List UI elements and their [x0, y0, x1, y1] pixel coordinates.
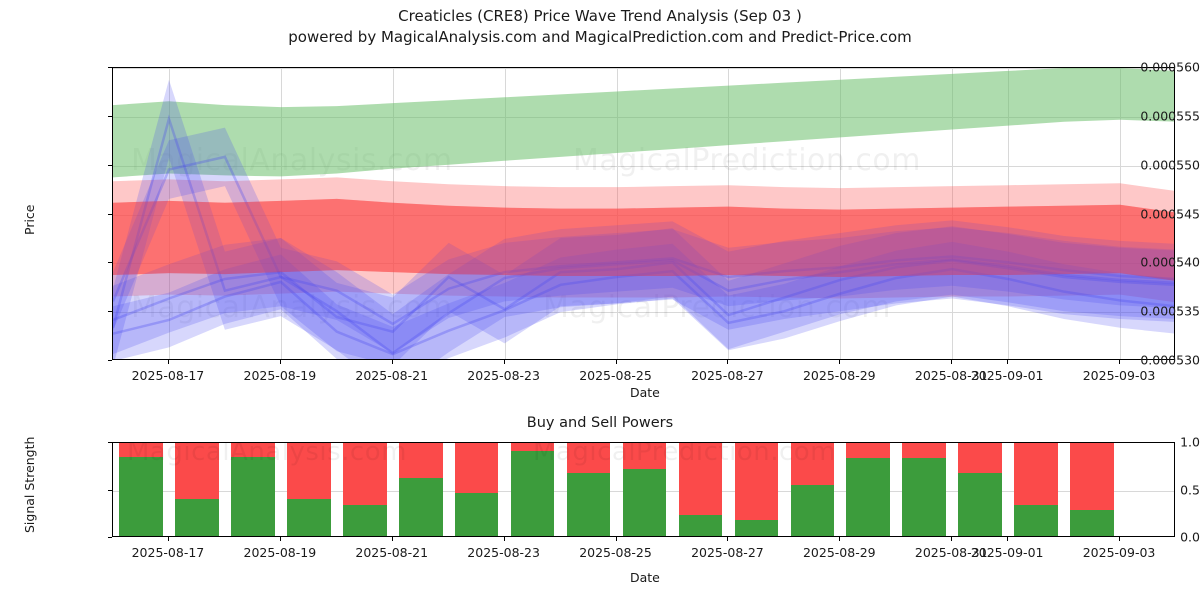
- powers-y-tickmark: [108, 442, 112, 443]
- sell-power-segment: [623, 442, 667, 469]
- powers-x-tick-label: 2025-08-17: [132, 545, 205, 560]
- powers-y-axis-label: Signal Strength: [22, 437, 37, 533]
- price-x-tickmark: [1119, 360, 1120, 364]
- powers-x-tickmark: [280, 537, 281, 541]
- price-y-tickmark: [108, 311, 112, 312]
- sell-power-segment: [511, 442, 555, 451]
- powers-y-tick-label: 1.0: [1098, 435, 1200, 450]
- price-x-axis-label: Date: [630, 385, 660, 400]
- price-x-tickmark: [504, 360, 505, 364]
- price-x-tick-label: 2025-08-21: [355, 368, 428, 383]
- buy-power-segment: [455, 493, 499, 536]
- price-x-tick-label: 2025-08-19: [244, 368, 317, 383]
- powers-x-tick-label: 2025-08-25: [579, 545, 652, 560]
- powers-x-tick-label: 2025-08-19: [244, 545, 317, 560]
- price-y-tickmark: [108, 67, 112, 68]
- buy-power-segment: [1014, 505, 1058, 536]
- powers-x-axis-label: Date: [630, 570, 660, 585]
- powers-x-tickmark: [504, 537, 505, 541]
- powers-x-tick-label: 2025-09-03: [1083, 545, 1156, 560]
- powers-x-tickmark: [951, 537, 952, 541]
- price-wave-layer: [113, 68, 1175, 360]
- power-bar: [1014, 442, 1058, 536]
- price-plot-area: MagicalAnalysis.comMagicalPrediction.com…: [112, 67, 1175, 360]
- price-y-tickmark: [108, 116, 112, 117]
- price-x-tick-label: 2025-08-27: [691, 368, 764, 383]
- powers-x-tick-label: 2025-08-23: [467, 545, 540, 560]
- power-bar: [958, 442, 1002, 536]
- powers-y-tickmark: [108, 537, 112, 538]
- buy-power-segment: [175, 499, 219, 536]
- power-bar: [511, 442, 555, 536]
- powers-x-tick-label: 2025-09-01: [971, 545, 1044, 560]
- power-bar: [902, 442, 946, 536]
- sell-power-segment: [846, 442, 890, 458]
- price-y-tick-label: 0.000545: [1098, 206, 1200, 221]
- powers-x-tickmark: [1119, 537, 1120, 541]
- support-band-overlay: [113, 199, 1175, 281]
- power-bar: [567, 442, 611, 536]
- sell-power-segment: [119, 442, 163, 457]
- price-y-tick-label: 0.000530: [1098, 353, 1200, 368]
- price-x-tickmark: [951, 360, 952, 364]
- price-y-tick-label: 0.000550: [1098, 157, 1200, 172]
- price-x-tickmark: [616, 360, 617, 364]
- powers-x-tickmark: [839, 537, 840, 541]
- power-bar: [846, 442, 890, 536]
- buy-power-segment: [511, 451, 555, 536]
- price-y-tickmark: [108, 165, 112, 166]
- powers-x-tickmark: [727, 537, 728, 541]
- buy-power-segment: [902, 458, 946, 536]
- power-bar: [287, 442, 331, 536]
- sell-power-segment: [231, 442, 275, 457]
- sell-power-segment: [1014, 442, 1058, 505]
- power-bar: [791, 442, 835, 536]
- power-bar: [735, 442, 779, 536]
- powers-chart-panel: Buy and Sell Powers MagicalAnalysis.comM…: [0, 415, 1200, 600]
- price-x-tick-label: 2025-09-03: [1083, 368, 1156, 383]
- page-subtitle: powered by MagicalAnalysis.com and Magic…: [0, 27, 1200, 48]
- price-x-tick-label: 2025-09-01: [971, 368, 1044, 383]
- sell-power-segment: [287, 442, 331, 499]
- power-bar: [175, 442, 219, 536]
- chart-page: Creaticles (CRE8) Price Wave Trend Analy…: [0, 0, 1200, 600]
- sell-power-segment: [343, 442, 387, 505]
- price-x-tick-label: 2025-08-23: [467, 368, 540, 383]
- buy-power-segment: [679, 515, 723, 536]
- price-x-tick-label: 2025-08-25: [579, 368, 652, 383]
- power-bar: [231, 442, 275, 536]
- price-y-tickmark: [108, 262, 112, 263]
- resistance-band: [113, 68, 1175, 177]
- powers-chart-title: Buy and Sell Powers: [0, 415, 1200, 431]
- power-bar: [623, 442, 667, 536]
- price-x-tickmark: [727, 360, 728, 364]
- buy-power-segment: [287, 499, 331, 536]
- price-x-tickmark: [168, 360, 169, 364]
- powers-x-tick-label: 2025-08-27: [691, 545, 764, 560]
- sell-power-segment: [791, 442, 835, 485]
- powers-y-tick-label: 0.5: [1098, 482, 1200, 497]
- title-block: Creaticles (CRE8) Price Wave Trend Analy…: [0, 6, 1200, 48]
- price-y-tickmark: [108, 360, 112, 361]
- price-y-tick-label: 0.000555: [1098, 108, 1200, 123]
- sell-power-segment: [735, 442, 779, 520]
- sell-power-segment: [902, 442, 946, 458]
- price-chart-panel: MagicalAnalysis.comMagicalPrediction.com…: [0, 55, 1200, 400]
- powers-x-tick-label: 2025-08-21: [355, 545, 428, 560]
- power-bar: [455, 442, 499, 536]
- power-bar: [119, 442, 163, 536]
- buy-power-segment: [231, 457, 275, 536]
- sell-power-segment: [175, 442, 219, 499]
- price-y-tick-label: 0.000535: [1098, 304, 1200, 319]
- price-x-tickmark: [280, 360, 281, 364]
- buy-power-segment: [119, 457, 163, 536]
- sell-power-segment: [455, 442, 499, 493]
- buy-power-segment: [735, 520, 779, 536]
- power-bar: [679, 442, 723, 536]
- powers-y-tick-label: 0.0: [1098, 530, 1200, 545]
- powers-y-tickmark: [108, 490, 112, 491]
- buy-power-segment: [399, 478, 443, 536]
- price-x-tickmark: [839, 360, 840, 364]
- powers-x-tick-label: 2025-08-29: [803, 545, 876, 560]
- page-title: Creaticles (CRE8) Price Wave Trend Analy…: [0, 6, 1200, 27]
- price-y-tick-label: 0.000560: [1098, 60, 1200, 75]
- buy-power-segment: [623, 469, 667, 536]
- price-x-tick-label: 2025-08-29: [803, 368, 876, 383]
- sell-power-segment: [679, 442, 723, 515]
- price-x-tickmark: [1007, 360, 1008, 364]
- buy-power-segment: [567, 473, 611, 536]
- buy-power-segment: [958, 473, 1002, 536]
- price-y-axis-label: Price: [22, 205, 37, 236]
- price-y-tick-label: 0.000540: [1098, 255, 1200, 270]
- sell-power-segment: [567, 442, 611, 473]
- price-x-tick-label: 2025-08-17: [132, 368, 205, 383]
- buy-power-segment: [846, 458, 890, 536]
- buy-power-segment: [791, 485, 835, 536]
- sell-power-segment: [399, 442, 443, 478]
- powers-x-tickmark: [392, 537, 393, 541]
- powers-x-tickmark: [1007, 537, 1008, 541]
- buy-power-segment: [343, 505, 387, 536]
- power-bar: [399, 442, 443, 536]
- powers-x-tickmark: [616, 537, 617, 541]
- power-bar: [343, 442, 387, 536]
- powers-x-tickmark: [168, 537, 169, 541]
- price-y-tickmark: [108, 214, 112, 215]
- price-x-tickmark: [392, 360, 393, 364]
- sell-power-segment: [1070, 442, 1114, 510]
- powers-plot-area: MagicalAnalysis.comMagicalPrediction.com: [112, 442, 1175, 537]
- sell-power-segment: [958, 442, 1002, 473]
